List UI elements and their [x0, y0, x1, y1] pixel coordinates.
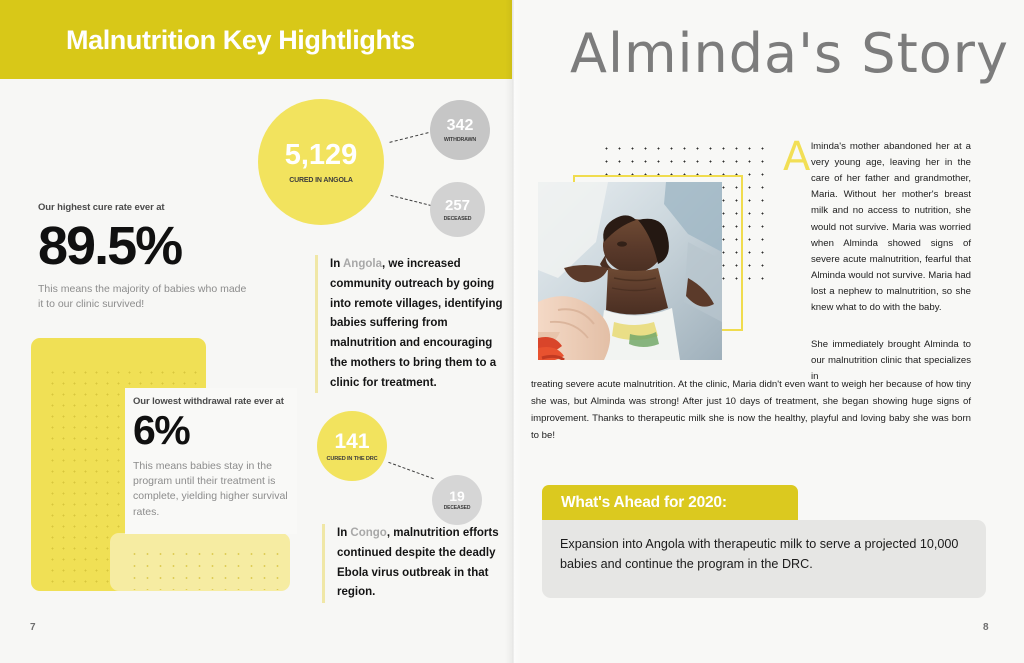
stat-kicker: Our highest cure rate ever at	[38, 202, 253, 213]
stat-kicker: Our lowest withdrawal rate ever at	[133, 396, 293, 407]
stat-cure-rate: Our highest cure rate ever at 89.5% This…	[38, 202, 253, 312]
callout-lead: In	[337, 527, 350, 539]
left-page: Malnutrition Key Hightlights Our highest…	[0, 0, 512, 663]
circle-label: CURED IN ANGOLA	[289, 177, 353, 184]
page-number-right: 8	[983, 622, 989, 633]
story-title: Alminda's Story	[570, 22, 1009, 85]
infant-photo-illustration	[538, 182, 722, 360]
circle-label: WITHDRAWN	[444, 137, 476, 143]
whats-ahead-tab: What's Ahead for 2020:	[542, 485, 798, 520]
callout-body: , we increased community outreach by goi…	[330, 258, 503, 389]
whats-ahead-label: What's Ahead for 2020:	[542, 494, 727, 512]
callout-place: Congo	[350, 527, 386, 539]
stat-circle-cured-drc: 141 CURED IN THE DRC	[317, 411, 387, 481]
story-paragraph-3: treating severe acute malnutrition. At t…	[531, 377, 971, 445]
dot-pattern-small	[128, 548, 284, 590]
connector-dash	[391, 195, 432, 206]
stat-circle-deceased-angola: 257 DECEASED	[430, 182, 485, 237]
stat-withdrawal-rate: Our lowest withdrawal rate ever at 6% Th…	[133, 396, 293, 520]
story-photo	[538, 182, 722, 360]
circle-number: 257	[445, 198, 470, 213]
circle-label: CURED IN THE DRC	[326, 456, 377, 462]
circle-number: 19	[449, 489, 465, 503]
stat-circle-cured-angola: 5,129 CURED IN ANGOLA	[258, 99, 384, 225]
connector-dash	[388, 462, 433, 479]
whats-ahead-text: Expansion into Angola with therapeutic m…	[560, 534, 972, 574]
callout-lead: In	[330, 258, 343, 270]
stat-description: This means babies stay in the program un…	[133, 459, 293, 520]
stat-circle-withdrawn: 342 WITHDRAWN	[430, 100, 490, 160]
stat-value: 6%	[133, 410, 293, 451]
page-title: Malnutrition Key Hightlights	[66, 25, 415, 56]
header-banner: Malnutrition Key Hightlights	[0, 0, 512, 79]
stat-value: 89.5%	[38, 219, 253, 273]
connector-dash	[389, 132, 428, 143]
circle-label: DECEASED	[444, 216, 472, 222]
circle-number: 5,129	[285, 141, 358, 170]
callout-angola: In Angola, we increased community outrea…	[315, 255, 510, 393]
circle-number: 141	[334, 431, 369, 452]
page-number-left: 7	[30, 622, 36, 633]
story-paragraph-1: lminda's mother abandoned her at a very …	[811, 139, 971, 316]
drop-cap: A	[783, 137, 810, 177]
circle-label: DECEASED	[444, 505, 471, 511]
magazine-spread: Malnutrition Key Hightlights Our highest…	[0, 0, 1024, 663]
stat-description: This means the majority of babies who ma…	[38, 282, 253, 312]
callout-congo: In Congo, malnutrition efforts continued…	[322, 524, 502, 603]
stat-circle-deceased-drc: 19 DECEASED	[432, 475, 482, 525]
callout-place: Angola	[343, 258, 382, 270]
circle-number: 342	[447, 118, 474, 134]
